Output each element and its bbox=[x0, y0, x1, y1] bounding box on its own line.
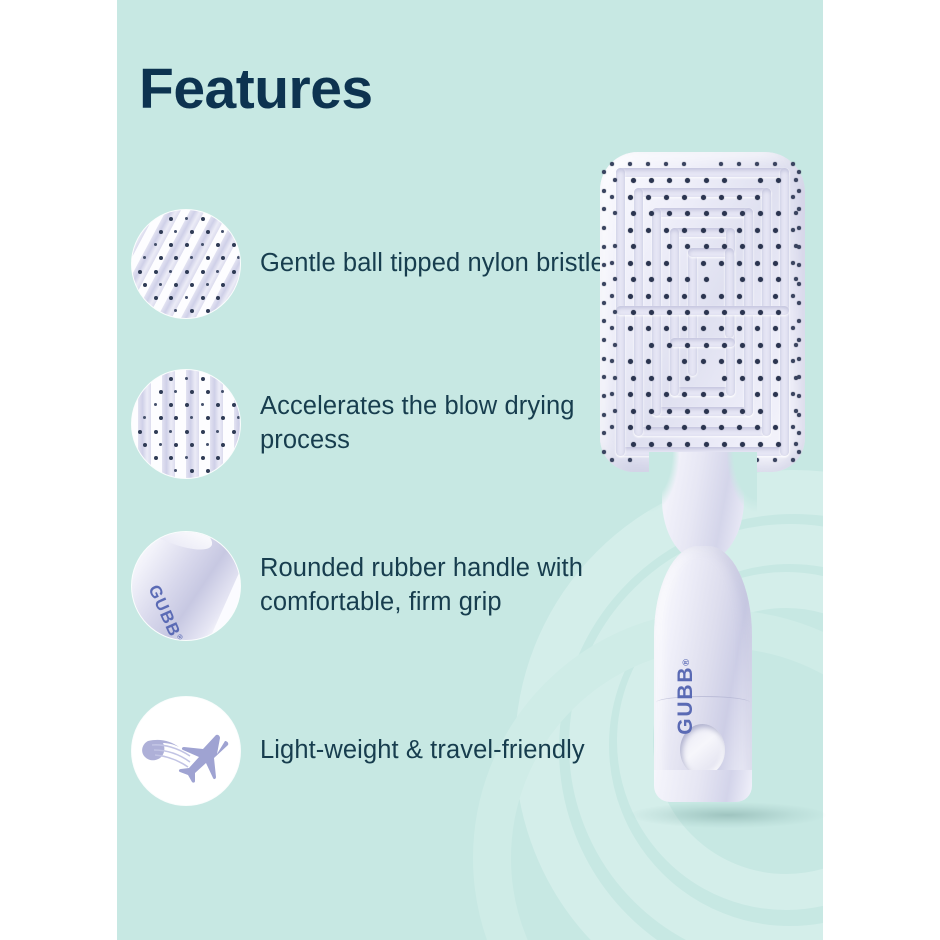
bristle-tip bbox=[138, 270, 142, 274]
bristle-tip bbox=[740, 442, 745, 447]
bristle-tip bbox=[610, 294, 614, 298]
bristle-closeup-diagonal-icon bbox=[132, 210, 240, 318]
bristle-tip bbox=[206, 256, 210, 260]
bristle-tip bbox=[628, 294, 633, 299]
bristle-tip bbox=[740, 376, 745, 381]
bristle-tip bbox=[610, 359, 614, 363]
bristle-tip bbox=[719, 425, 724, 430]
bristle-tip bbox=[755, 162, 759, 166]
bristle-tip bbox=[174, 390, 177, 393]
bristle-tip bbox=[649, 178, 654, 183]
bristle-tip bbox=[646, 195, 651, 200]
bristle-tip bbox=[602, 226, 606, 230]
bristle-tip bbox=[776, 277, 781, 282]
bristle-tip bbox=[649, 409, 654, 414]
bristle-tip bbox=[221, 230, 224, 233]
bristle-tip bbox=[704, 343, 709, 348]
bristle-tip bbox=[631, 178, 636, 183]
bristle-tip bbox=[602, 450, 606, 454]
bristle-tip bbox=[206, 469, 210, 473]
bristle-tip bbox=[740, 310, 745, 315]
bristle-tip bbox=[797, 170, 801, 174]
bristle-tip bbox=[138, 430, 142, 434]
bristle-tip bbox=[685, 376, 690, 381]
feature-item-2: Accelerates the blow drying process bbox=[132, 370, 652, 478]
bristle-tip bbox=[737, 425, 742, 430]
bristle-tip bbox=[758, 178, 763, 183]
bristle-tip bbox=[201, 296, 205, 300]
bristle-tip bbox=[174, 416, 178, 420]
airplane-feather-icon bbox=[132, 697, 240, 805]
bristle-tip bbox=[773, 228, 778, 233]
bristle-tip bbox=[649, 442, 654, 447]
bristle-tip bbox=[628, 458, 632, 462]
bristle-tip bbox=[704, 409, 709, 414]
bristle-tip bbox=[154, 296, 158, 300]
bristle-tip bbox=[719, 162, 723, 166]
bristle-tip bbox=[701, 294, 706, 299]
bristle-tip bbox=[206, 283, 209, 286]
bristle-tip bbox=[602, 207, 606, 211]
bristle-tip bbox=[791, 326, 795, 330]
bristle-tip bbox=[704, 211, 709, 216]
bristle-tip bbox=[776, 343, 781, 348]
bristle-tip bbox=[755, 359, 760, 364]
bristle-tip bbox=[174, 443, 178, 447]
bristle-tip bbox=[610, 392, 614, 396]
bristle-tip bbox=[602, 338, 606, 342]
bristle-tip bbox=[631, 376, 636, 381]
bristle-tip bbox=[797, 189, 801, 193]
bristle-tip bbox=[190, 230, 194, 234]
brush-vent-slot bbox=[616, 168, 789, 177]
bristle-tip bbox=[740, 244, 745, 249]
infographic-canvas: Features Gentle ball tipped nylon bristl… bbox=[0, 0, 940, 940]
bristle-tip bbox=[791, 195, 795, 199]
bristle-tip bbox=[758, 376, 763, 381]
bristle-tip bbox=[185, 456, 188, 459]
bristle-tip bbox=[773, 261, 778, 266]
bristle-tip bbox=[206, 230, 210, 234]
bristle-tip bbox=[719, 326, 724, 331]
bristle-tip bbox=[682, 326, 687, 331]
bristle-tip bbox=[794, 178, 798, 182]
bristle-tip bbox=[776, 376, 781, 381]
bristle-tip bbox=[791, 359, 795, 363]
bristle-tip bbox=[773, 425, 778, 430]
bristle-tip bbox=[758, 277, 763, 282]
bristle-rib bbox=[186, 370, 199, 478]
bristle-tip bbox=[755, 326, 760, 331]
bristle-tip bbox=[773, 458, 777, 462]
bristle-tip bbox=[201, 430, 205, 434]
handle-bottom-cap bbox=[654, 770, 752, 802]
bristle-tip bbox=[628, 326, 633, 331]
bristle-tip bbox=[704, 277, 709, 282]
bristle-tip bbox=[646, 392, 651, 397]
bristle-tip bbox=[685, 178, 690, 183]
bristle-tip bbox=[722, 343, 727, 348]
bristle-tip bbox=[776, 442, 781, 447]
bristle-tip bbox=[755, 195, 760, 200]
feature-item-4: Light-weight & travel-friendly bbox=[132, 697, 652, 805]
bristle-tip bbox=[185, 430, 189, 434]
bristle-tip bbox=[797, 282, 801, 286]
bristle-tip bbox=[737, 326, 742, 331]
bristle-tip bbox=[602, 431, 606, 435]
bristle-tip bbox=[773, 326, 778, 331]
bristle-tip bbox=[185, 243, 189, 247]
feature-label: Gentle ball tipped nylon bristles bbox=[260, 247, 618, 281]
bristle-tip bbox=[610, 195, 614, 199]
bristle-tip bbox=[722, 442, 727, 447]
bristle-tip bbox=[667, 409, 672, 414]
bristle-tip bbox=[704, 178, 709, 183]
bristle-tip bbox=[602, 245, 606, 249]
feature-label: Light-weight & travel-friendly bbox=[260, 734, 585, 768]
bristle-tip bbox=[185, 217, 188, 220]
bristle-tip bbox=[159, 283, 162, 286]
bristle-tip bbox=[773, 359, 778, 364]
bristle-tip bbox=[221, 416, 225, 420]
bristle-tip bbox=[722, 211, 727, 216]
bristle-tip bbox=[628, 195, 633, 200]
bristle-tip bbox=[631, 409, 636, 414]
bristle-tip bbox=[797, 375, 801, 379]
bristle-tip bbox=[797, 413, 801, 417]
bristle-tip bbox=[628, 425, 633, 430]
bristle-tip bbox=[719, 294, 724, 299]
bristle-tip bbox=[682, 392, 687, 397]
bristle-tip bbox=[797, 263, 801, 267]
bristle-tip bbox=[722, 178, 727, 183]
bristle-tip bbox=[797, 450, 801, 454]
bristle-tip bbox=[719, 392, 724, 397]
bristle-tip bbox=[628, 162, 632, 166]
bristle-tip bbox=[791, 458, 795, 462]
bristle-tip bbox=[206, 309, 210, 313]
brush-head bbox=[600, 152, 805, 472]
bristle-tip bbox=[201, 377, 205, 381]
bristle-tip bbox=[646, 261, 651, 266]
bristle-tip bbox=[201, 403, 204, 406]
bristle-tip bbox=[740, 409, 745, 414]
bristle-tip bbox=[143, 283, 147, 287]
bristle-tip bbox=[791, 294, 795, 298]
bristle-tip bbox=[664, 228, 669, 233]
bristle-tip bbox=[797, 207, 801, 211]
brush-vent-slot bbox=[725, 248, 734, 338]
bristle-tip bbox=[722, 310, 727, 315]
feature-item-1: Gentle ball tipped nylon bristles bbox=[132, 210, 652, 318]
bristle-tip bbox=[232, 243, 236, 247]
bristle-tip bbox=[190, 469, 194, 473]
bristle-tip bbox=[602, 357, 606, 361]
bristle-tip bbox=[174, 309, 177, 312]
bristle-tip bbox=[794, 211, 798, 215]
bristle-tip bbox=[791, 228, 795, 232]
bristle-tip bbox=[797, 338, 801, 342]
bristle-tip bbox=[646, 294, 651, 299]
bristle-tip bbox=[628, 359, 633, 364]
bristle-tip bbox=[221, 443, 225, 447]
bristle-rib bbox=[210, 370, 223, 478]
bristle-tip bbox=[185, 270, 189, 274]
bristle-tip bbox=[602, 375, 606, 379]
bristle-tip bbox=[646, 359, 651, 364]
bristle-tip bbox=[701, 425, 706, 430]
bristle-tip bbox=[737, 261, 742, 266]
bristle-tip bbox=[737, 195, 742, 200]
brush-vent-slot bbox=[616, 306, 789, 315]
bristle-tip bbox=[667, 442, 672, 447]
bristle-tip bbox=[704, 244, 709, 249]
bristle-tip bbox=[737, 294, 742, 299]
bristle-rib bbox=[138, 370, 151, 478]
handle-closeup-icon: GUBB® bbox=[132, 532, 240, 640]
bristle-tip bbox=[185, 296, 188, 299]
bristle-tip bbox=[722, 376, 727, 381]
bristle-tip bbox=[737, 228, 742, 233]
bristle-tip bbox=[628, 392, 633, 397]
bristle-tip bbox=[664, 261, 669, 266]
bristle-tip bbox=[646, 326, 651, 331]
bristle-tip bbox=[154, 403, 157, 406]
bristle-tip bbox=[791, 162, 795, 166]
bristle-tip bbox=[704, 310, 709, 315]
bristle-tip bbox=[797, 319, 801, 323]
bristle-tip bbox=[794, 343, 798, 347]
bristle-tip bbox=[602, 282, 606, 286]
bristle-tip bbox=[613, 376, 617, 380]
bristle-tip bbox=[682, 359, 687, 364]
bristle-tip bbox=[701, 195, 706, 200]
bristle-tip bbox=[791, 392, 795, 396]
bristle-tip bbox=[682, 294, 687, 299]
bristle-tip bbox=[722, 409, 727, 414]
bristle-tip bbox=[791, 425, 795, 429]
bristle-tip bbox=[740, 343, 745, 348]
bristle-tip bbox=[755, 392, 760, 397]
bristle-tip bbox=[755, 228, 760, 233]
bristle-rib bbox=[162, 370, 175, 478]
bristle-tip bbox=[190, 443, 194, 447]
bristle-tip bbox=[740, 277, 745, 282]
bristle-tip bbox=[221, 390, 224, 393]
bristle-tip bbox=[758, 409, 763, 414]
bristle-tip bbox=[143, 443, 147, 447]
bristle-tip bbox=[610, 261, 614, 265]
bristle-tip bbox=[602, 413, 606, 417]
bristle-tip bbox=[602, 301, 606, 305]
bristle-tip bbox=[602, 394, 606, 398]
bristle-tip bbox=[797, 431, 801, 435]
bristle-tip bbox=[613, 409, 617, 413]
bristle-tip bbox=[159, 256, 163, 260]
bristle-tip bbox=[758, 343, 763, 348]
bristle-tip bbox=[755, 425, 760, 430]
bristle-tip bbox=[794, 409, 798, 413]
bristle-tip bbox=[701, 392, 706, 397]
bristle-tip bbox=[667, 178, 672, 183]
bristle-tip bbox=[159, 230, 163, 234]
bristle-tip bbox=[682, 162, 686, 166]
bristle-tip bbox=[664, 195, 669, 200]
bristle-tip bbox=[232, 430, 236, 434]
bristle-tip bbox=[159, 443, 162, 446]
bristle-tip bbox=[190, 283, 194, 287]
feature-item-3: GUBB® Rounded rubber handle with comfort… bbox=[132, 532, 652, 640]
bristle-tip bbox=[722, 244, 727, 249]
bristle-tip bbox=[719, 359, 724, 364]
bristle-tip bbox=[664, 162, 668, 166]
bristle-tip bbox=[685, 442, 690, 447]
bristle-tip bbox=[201, 270, 205, 274]
bristle-tip bbox=[701, 326, 706, 331]
bristle-tip bbox=[602, 263, 606, 267]
bristle-tip bbox=[773, 294, 778, 299]
handle-tube-shape bbox=[132, 532, 240, 640]
bristle-tip bbox=[758, 442, 763, 447]
bristle-tip bbox=[610, 458, 614, 462]
bristle-tip bbox=[794, 442, 798, 446]
bristle-tip bbox=[610, 326, 614, 330]
bristle-tip bbox=[628, 261, 633, 266]
gubb-brand-logo: GUBB® bbox=[666, 648, 706, 744]
bristle-tip bbox=[646, 162, 650, 166]
bristle-tip bbox=[602, 170, 606, 174]
bristle-tip bbox=[628, 228, 633, 233]
bristle-tip bbox=[613, 343, 617, 347]
bristle-tip bbox=[201, 456, 205, 460]
bristle-tip bbox=[797, 301, 801, 305]
bristle-tip bbox=[190, 309, 194, 313]
bristle-tip bbox=[602, 319, 606, 323]
bristle-tip bbox=[154, 456, 158, 460]
bristle-tip bbox=[206, 390, 210, 394]
bristle-tip bbox=[154, 430, 158, 434]
gubb-brand-logo-text: GUBB® bbox=[666, 648, 706, 744]
bristle-tip bbox=[719, 261, 724, 266]
bristle-tip bbox=[602, 189, 606, 193]
bristle-tip bbox=[737, 359, 742, 364]
bristle-tip bbox=[682, 195, 687, 200]
bristle-tip bbox=[737, 162, 741, 166]
bristle-tip bbox=[610, 162, 614, 166]
brush-vent-maze-pattern bbox=[600, 152, 805, 472]
bristle-tip bbox=[646, 228, 651, 233]
bristle-tip bbox=[613, 310, 617, 314]
bristle-closeup-vertical-icon bbox=[132, 370, 240, 478]
bristle-tip bbox=[201, 217, 205, 221]
bristle-tip bbox=[232, 270, 236, 274]
airplane-feather-glyph bbox=[132, 697, 240, 805]
bristle-tip bbox=[185, 377, 188, 380]
bristle-tip bbox=[797, 394, 801, 398]
bristle-tip bbox=[610, 425, 614, 429]
page-title: Features bbox=[139, 60, 373, 120]
bristle-tip bbox=[701, 359, 706, 364]
bristle-tip bbox=[797, 226, 801, 230]
bristle-tip bbox=[776, 310, 781, 315]
bristle-tip bbox=[701, 261, 706, 266]
bristle-tip bbox=[701, 228, 706, 233]
bristle-tip bbox=[664, 294, 669, 299]
bristle-tip bbox=[206, 443, 209, 446]
bristle-tip bbox=[773, 392, 778, 397]
bristle-tip bbox=[704, 442, 709, 447]
bristle-tip bbox=[159, 390, 163, 394]
bristle-tip bbox=[794, 277, 798, 281]
bristle-tip bbox=[719, 195, 724, 200]
bristle-tip bbox=[664, 326, 669, 331]
bristle-rib bbox=[234, 370, 240, 478]
bristle-tip bbox=[719, 228, 724, 233]
bristle-tip bbox=[797, 245, 801, 249]
bristle-tip bbox=[758, 310, 763, 315]
bristle-tip bbox=[664, 392, 669, 397]
bristle-tip bbox=[755, 261, 760, 266]
bristle-tip bbox=[174, 469, 177, 472]
bristle-tip bbox=[631, 442, 636, 447]
bristle-tip bbox=[797, 357, 801, 361]
bristle-tip bbox=[154, 270, 158, 274]
bristle-tip bbox=[791, 261, 795, 265]
bristle-tip bbox=[773, 162, 777, 166]
bristle-tip bbox=[649, 376, 654, 381]
